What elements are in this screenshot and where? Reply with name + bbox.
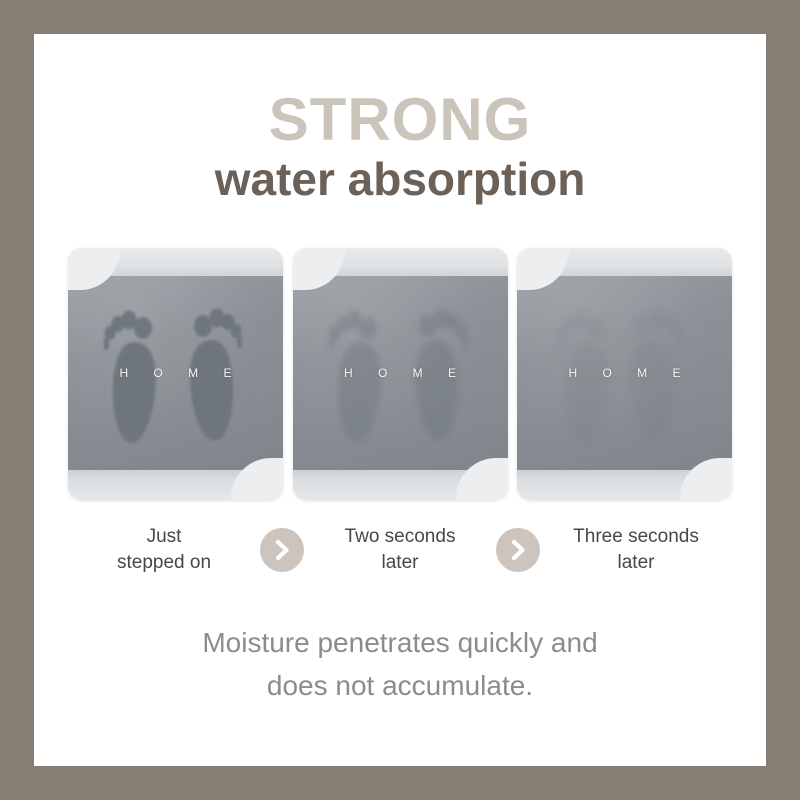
footer-tagline: Moisture penetrates quickly and does not… [34, 622, 766, 707]
caption-row: Just stepped on Two seconds later [68, 512, 732, 588]
mat-image-2: H O M E [293, 248, 508, 500]
caption-3-line2: later [540, 550, 732, 576]
poster-inner-panel: STRONG water absorption [34, 34, 766, 766]
product-poster: STRONG water absorption [0, 0, 800, 800]
footer-line2: does not accumulate. [34, 665, 766, 708]
caption-3-line1: Three seconds [540, 524, 732, 550]
mat-image-1: H O M E [68, 248, 283, 500]
mat-brand-text-1: H O M E [68, 366, 283, 380]
caption-1: Just stepped on [68, 524, 260, 575]
caption-2-line2: later [304, 550, 496, 576]
caption-1-line1: Just [68, 524, 260, 550]
mat-face: H O M E [293, 276, 508, 470]
mat-brand-text-3: H O M E [517, 366, 732, 380]
mat-brand-text-2: H O M E [293, 366, 508, 380]
mat-sequence-row: H O M E [68, 248, 732, 500]
mat-face: H O M E [68, 276, 283, 470]
arrow-slot-2 [496, 528, 540, 572]
mat-face: H O M E [517, 276, 732, 470]
headline-subtitle: water absorption [34, 156, 766, 202]
caption-1-line2: stepped on [68, 550, 260, 576]
arrow-slot-1 [260, 528, 304, 572]
caption-3: Three seconds later [540, 524, 732, 575]
mat-image-3: H O M E [517, 248, 732, 500]
caption-2: Two seconds later [304, 524, 496, 575]
caption-2-line1: Two seconds [304, 524, 496, 550]
chevron-right-icon [496, 528, 540, 572]
headline-accent-word: STRONG [34, 90, 766, 150]
headline-block: STRONG water absorption [34, 90, 766, 202]
chevron-right-icon [260, 528, 304, 572]
footer-line1: Moisture penetrates quickly and [34, 622, 766, 665]
